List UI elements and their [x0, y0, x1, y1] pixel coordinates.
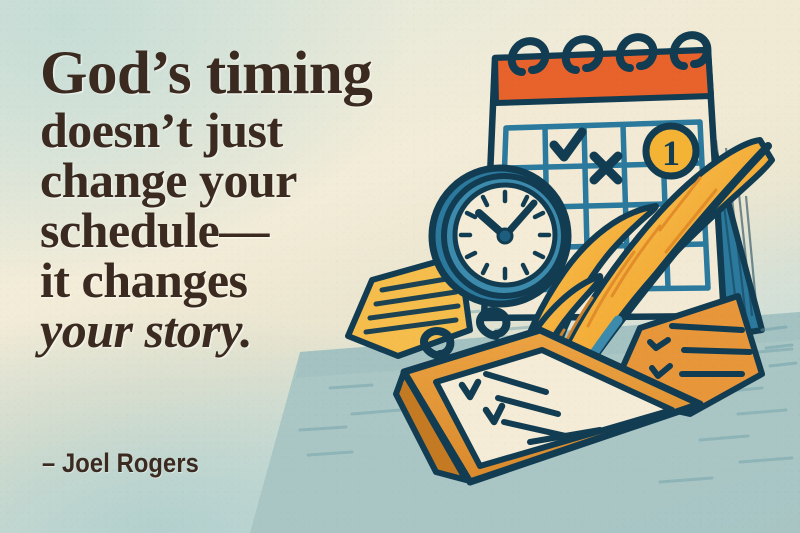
calendar-day-one-badge: 1 [646, 126, 696, 176]
calendar-header-band [495, 50, 711, 103]
quote-line-1: God’s timing [40, 44, 430, 104]
quote-line-4: schedule— [40, 206, 430, 255]
svg-text:1: 1 [662, 133, 680, 173]
quote-line-2: doesn’t just [40, 106, 430, 155]
quote-line-5: it changes [40, 256, 430, 305]
quote-line-3: change your [40, 156, 430, 205]
clock [432, 168, 568, 304]
quote-attribution: – Joel Rogers [42, 448, 199, 479]
quote-block: God’s timing doesn’t just change your sc… [40, 44, 430, 355]
quote-graphic-canvas: 1 [0, 0, 800, 533]
quote-line-6: your story. [40, 306, 430, 355]
